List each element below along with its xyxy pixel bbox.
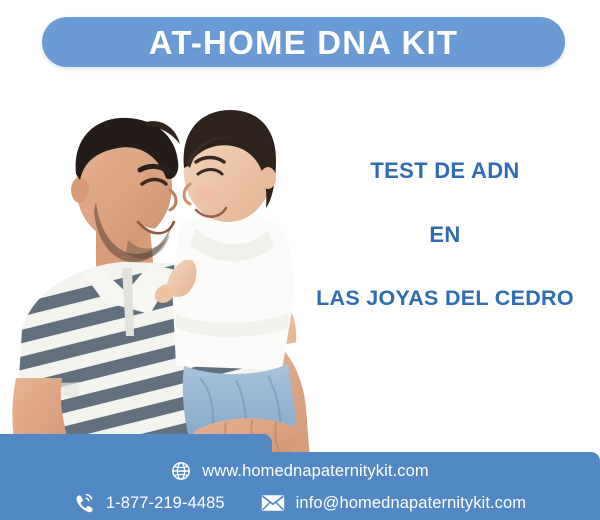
headline-line-3: LAS JOYAS DEL CEDRO	[300, 288, 590, 310]
header-pill: AT-HOME DNA KIT	[42, 17, 565, 67]
page-title: AT-HOME DNA KIT	[149, 26, 458, 59]
headline-line-2: EN	[300, 224, 590, 246]
location-text-block: TEST DE ADN EN LAS JOYAS DEL CEDRO	[300, 160, 590, 310]
envelope-icon	[261, 494, 285, 512]
phone-icon	[74, 493, 95, 514]
phone-item[interactable]: 1-877-219-4485	[74, 493, 225, 514]
family-photo-illustration	[0, 78, 330, 460]
email-item[interactable]: info@homednapaternitykit.com	[261, 494, 527, 513]
website-label: www.homednapaternitykit.com	[202, 462, 428, 481]
footer-row-website: www.homednapaternitykit.com	[0, 456, 600, 486]
headline-line-1: TEST DE ADN	[300, 160, 590, 182]
family-photo	[0, 78, 330, 460]
globe-icon	[171, 461, 191, 481]
footer-contact-info: www.homednapaternitykit.com 1-877-219-44…	[0, 452, 600, 520]
phone-label: 1-877-219-4485	[106, 494, 225, 513]
footer-row-phone-email: 1-877-219-4485 info@homednapaternitykit.…	[0, 488, 600, 518]
dna-kit-banner: AT-HOME DNA KIT	[0, 0, 600, 520]
website-item[interactable]: www.homednapaternitykit.com	[171, 461, 428, 481]
email-label: info@homednapaternitykit.com	[296, 494, 527, 513]
